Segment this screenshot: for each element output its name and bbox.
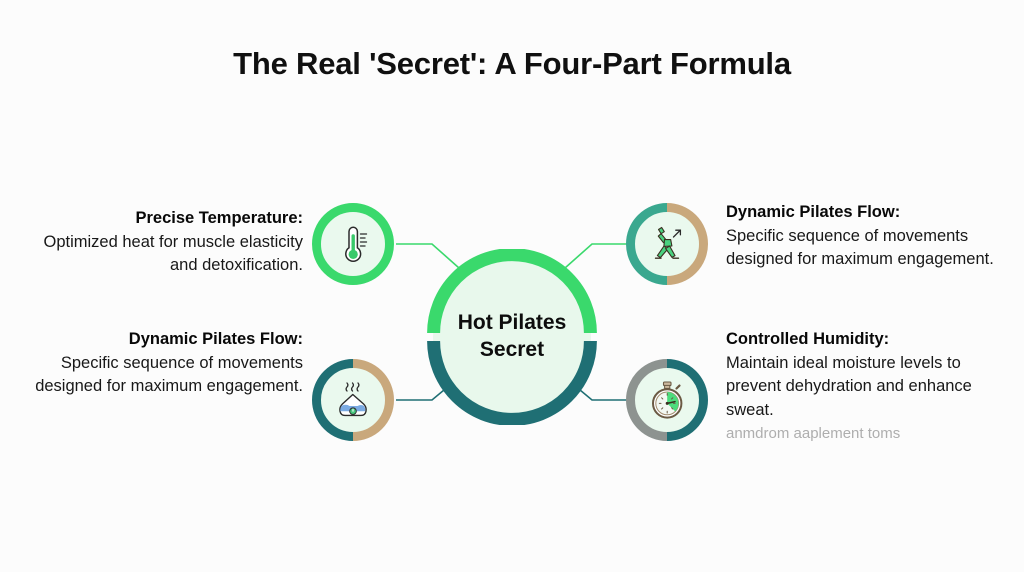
node-controlled-humidity[interactable] <box>626 359 708 441</box>
text-block-precise-temperature: Precise Temperature: Optimized heat for … <box>20 207 303 278</box>
node-body-dynamic-pilates-flow-left: Specific sequence of movements designed … <box>20 352 303 399</box>
infographic-canvas: The Real 'Secret': A Four-Part Formula H… <box>0 0 1024 572</box>
node-ghost-text-controlled-humidity: anmdrom aaplement toms <box>726 423 1012 444</box>
node-dynamic-pilates-flow-right[interactable] <box>626 203 708 285</box>
node-dynamic-pilates-flow-left[interactable] <box>312 359 394 441</box>
node-body-controlled-humidity: Maintain ideal moisture levels to preven… <box>726 352 1012 423</box>
node-title-controlled-humidity: Controlled Humidity: <box>726 328 1012 352</box>
node-body-dynamic-pilates-flow-right: Specific sequence of movements designed … <box>726 225 1012 272</box>
text-block-dynamic-pilates-flow-left: Dynamic Pilates Flow: Specific sequence … <box>20 328 303 399</box>
stopwatch-icon <box>644 377 690 423</box>
yoga-pose-icon <box>644 221 690 267</box>
node-body-precise-temperature: Optimized heat for muscle elasticity and… <box>20 231 303 278</box>
node-title-dynamic-pilates-flow-left: Dynamic Pilates Flow: <box>20 328 303 352</box>
text-block-controlled-humidity: Controlled Humidity: Maintain ideal mois… <box>726 328 1012 445</box>
node-title-dynamic-pilates-flow-right: Dynamic Pilates Flow: <box>726 201 1012 225</box>
center-hub: Hot Pilates Secret <box>424 249 600 425</box>
text-block-dynamic-pilates-flow-right: Dynamic Pilates Flow: Specific sequence … <box>726 201 1012 272</box>
thermometer-icon <box>330 221 376 267</box>
humidifier-icon <box>330 377 376 423</box>
node-precise-temperature[interactable] <box>312 203 394 285</box>
node-title-precise-temperature: Precise Temperature: <box>20 207 303 231</box>
hub-ring <box>424 249 600 425</box>
